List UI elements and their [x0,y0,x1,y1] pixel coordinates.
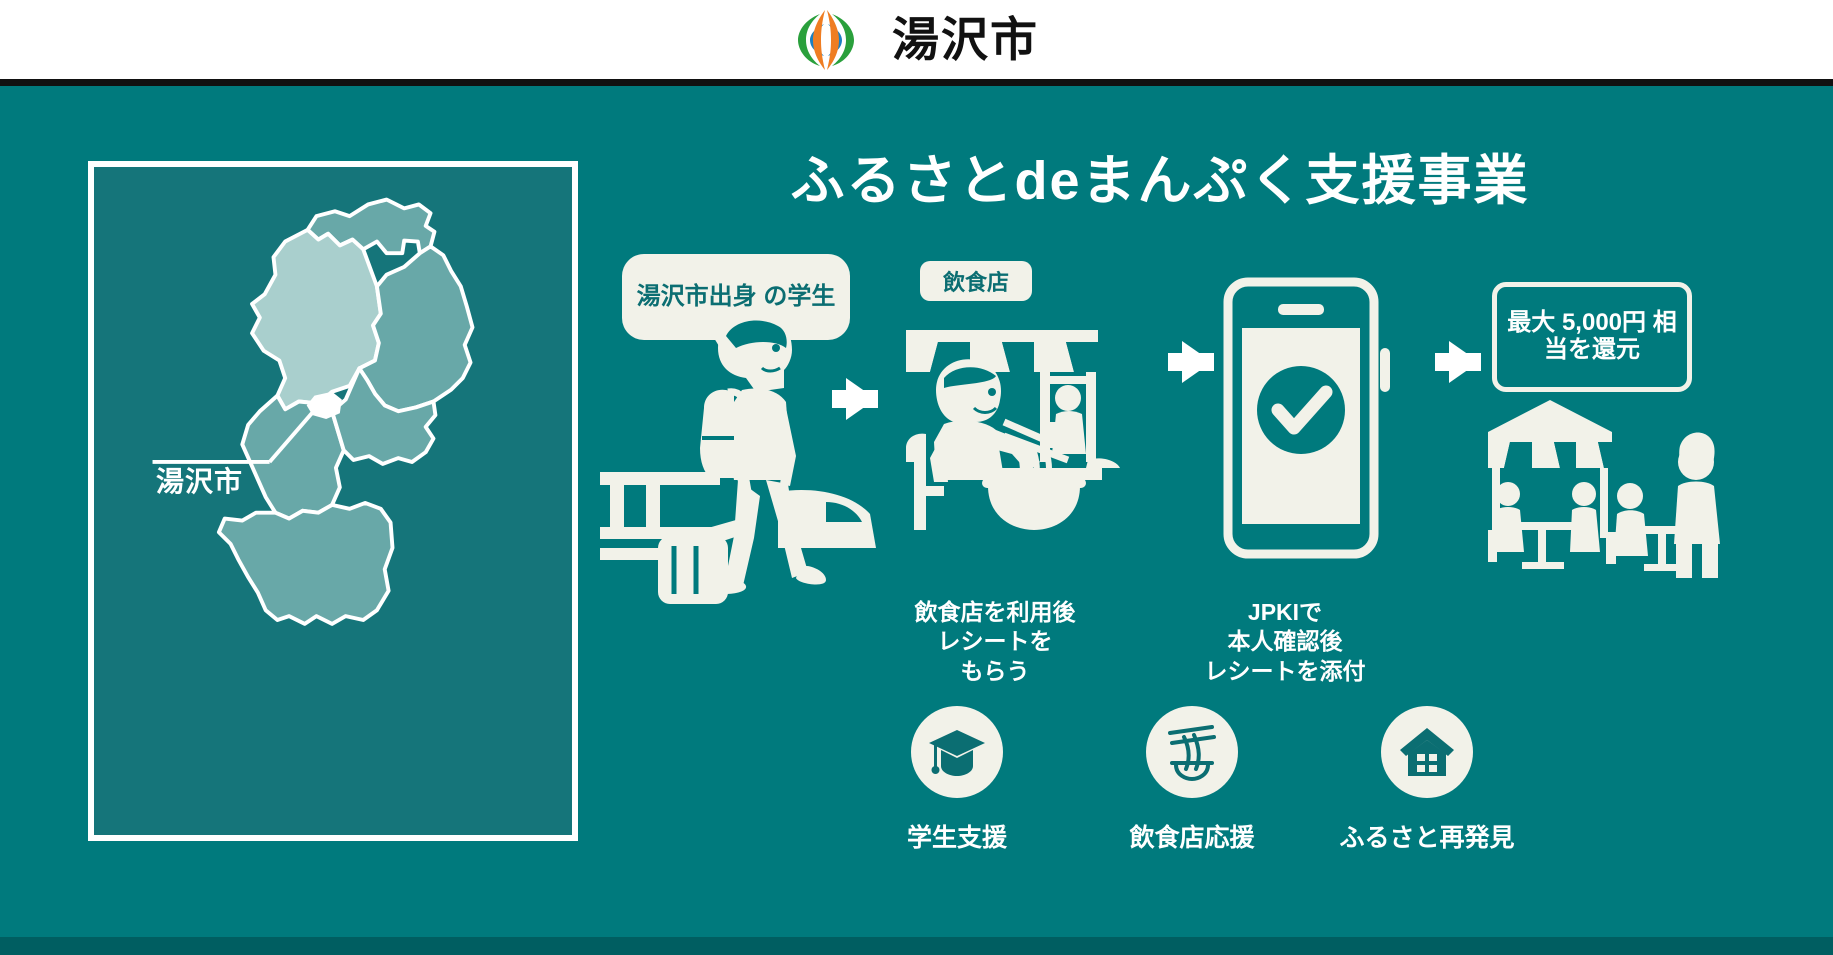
benefit-label: 飲食店応援 [1129,818,1254,854]
graduation-cap-icon [911,706,1003,798]
benefit-label: ふるさと再発見 [1340,818,1515,854]
restaurant-dining-illustration [900,272,1160,592]
page-title: ふるさとdeまんぷく支援事業 [600,136,1720,215]
reward-amount-card: 最大 5,000円 相当を還元 [1492,282,1692,392]
ramen-noodles-icon [1146,706,1238,798]
benefit-student-support: 学生支援 [872,706,1042,854]
map-callout-label: 湯沢市 [156,460,243,500]
header-title: 湯沢市 [892,16,1039,63]
flow-arrow-3-icon [1449,341,1479,383]
tohoku-region-map-panel: 湯沢市 [88,161,578,841]
benefits-row: 学生支援 飲食店応援 [872,706,1512,854]
smartphone-verification-illustration [1220,276,1410,566]
benefit-hometown-rediscovery: ふるさと再発見 [1342,706,1512,854]
check-circle-icon [1257,366,1345,454]
page-header: 湯沢市 [0,0,1833,86]
infographic-stage: 湯沢市 ふるさとdeまんぷく支援事業 湯沢市出身 の学生 飲食店 最大 5,00… [0,86,1833,955]
house-icon [1381,706,1473,798]
campaign-content: ふるさとdeまんぷく支援事業 湯沢市出身 の学生 飲食店 最大 5,000円 相… [600,86,1833,955]
step-caption-receipt: 飲食店を利用後 レシートを もらう [880,598,1110,686]
flow-arrow-2-icon [1182,341,1212,383]
traveling-student-illustration [600,296,900,606]
benefit-restaurant-support: 飲食店応援 [1107,706,1277,854]
bottom-accent-bar [0,937,1833,955]
hometown-revisit-illustration [1480,376,1730,596]
flow-arrow-1-icon [846,378,876,420]
benefit-label: 学生支援 [907,818,1007,854]
tohoku-map-icon [94,167,572,835]
step-caption-jpki: JPKIで 本人確認後 レシートを添付 [1170,598,1400,686]
yuzawa-city-logo-icon [794,8,858,72]
